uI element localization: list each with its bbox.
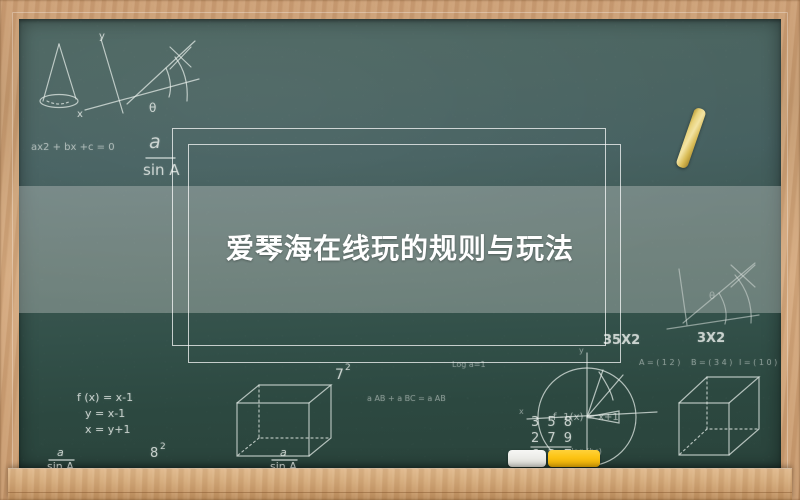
cube-drawing-center <box>237 385 331 456</box>
chalk-angle-label-topleft: θ <box>149 101 156 115</box>
chalk-matrix-a: A = ( 1 2 ) <box>639 358 680 367</box>
page-title: 爱琴海在线玩的规则与玩法 <box>19 231 781 267</box>
axes-angle-drawing <box>85 39 199 113</box>
chalk-function-line1: f (x) = x-1 <box>77 391 133 404</box>
chalk-fraction-sina-mid: sin A <box>270 460 297 468</box>
chalk-function-line3: x = y+1 <box>85 423 130 436</box>
yellow-chalk-stick-ledge <box>548 450 600 467</box>
chalk-ledge <box>8 468 792 500</box>
chalk-sum-row-1: 3 5 8 <box>531 415 574 430</box>
chalk-log-small: Log a=1 <box>452 360 486 369</box>
chalk-axis-label-x-topleft: x <box>77 109 83 120</box>
fraction-bars <box>49 158 297 460</box>
chalk-fraction-numerator-a: a <box>149 131 161 153</box>
white-chalk-stick <box>508 450 546 467</box>
chalk-power-seven-exponent: 2 <box>345 363 351 373</box>
chalk-fraction-a-left: a <box>57 446 64 459</box>
chalk-fraction-denominator-sina: sin A <box>143 161 180 179</box>
chalkboard-surface: a sin A ax2 + bx +c = 0 y x θ θ f (x) = … <box>19 19 781 468</box>
chalk-fraction-sina-left: sin A <box>47 460 74 468</box>
chalk-power-seven-base: 7 <box>335 367 344 383</box>
chalk-quadratic-equation: ax2 + bx +c = 0 <box>31 142 115 153</box>
chalk-inverse-function: f -1(x) = x+1 <box>553 412 619 423</box>
cone-drawing <box>40 44 78 108</box>
chalk-misc-expression: a AB + a BC = a AB <box>367 394 446 403</box>
chalk-angle-label-midright: θ <box>709 291 715 302</box>
chalk-sum-row-2: 2 7 9 <box>531 431 574 446</box>
chalk-fraction-a-mid: a <box>280 446 287 459</box>
angle-diagram-right <box>667 263 759 329</box>
chalk-power-eight-exponent: 2 <box>160 442 166 452</box>
chalk-axis-label-x-right: x <box>519 407 524 416</box>
chalk-matrix-c: I = ( 1 0 ) <box>739 358 777 367</box>
wooden-frame: a sin A ax2 + bx +c = 0 y x θ θ f (x) = … <box>0 0 800 500</box>
chalk-label-3x2: 3X2 <box>697 331 725 346</box>
chalk-matrix-b: B = ( 3 4 ) <box>691 358 732 367</box>
chalk-function-line2: y = x-1 <box>85 407 125 420</box>
cube-drawing-right <box>679 377 759 455</box>
chalk-label-35x2: 35X2 <box>603 333 640 348</box>
chalk-axis-label-y-right: y <box>579 346 584 355</box>
yellow-chalk-stick-diagonal <box>675 107 707 170</box>
chalk-power-eight-base: 8 <box>150 446 158 461</box>
chalk-axis-label-y-topleft: y <box>99 31 105 42</box>
